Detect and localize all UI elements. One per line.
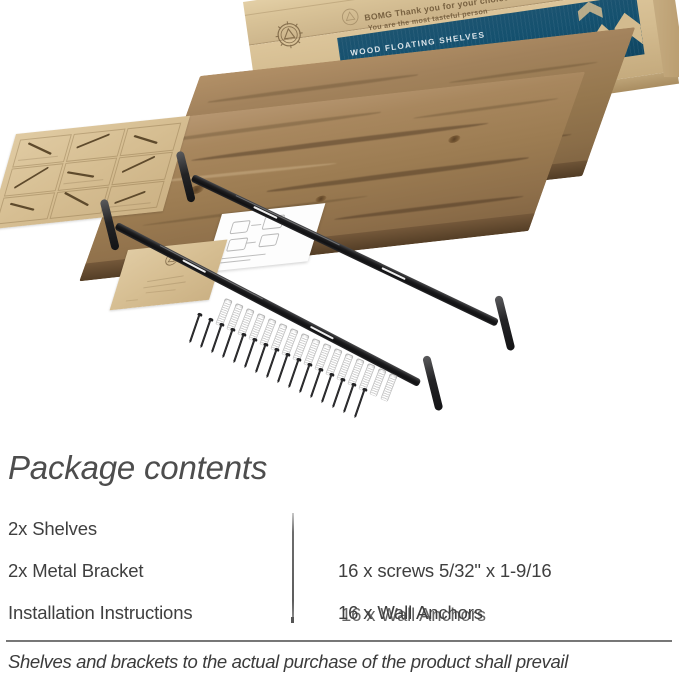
disclaimer-text: Shelves and brackets to the actual purch… [8, 651, 568, 673]
contents-item-shelves: 2x Shelves [8, 518, 97, 540]
contents-item-screws: 16 x screws 5/32" x 1-9/16 [338, 560, 551, 582]
column-divider-foot [291, 617, 294, 623]
screw-row [0, 0, 679, 437]
product-package-contents-image: BOMG Thank you for your choice You are t… [0, 0, 679, 677]
section-divider-rule [6, 640, 672, 642]
page-title: Package contents [8, 449, 267, 487]
column-divider [292, 513, 294, 620]
product-photo: BOMG Thank you for your choice You are t… [0, 0, 679, 437]
contents-item-metal-bracket: 2x Metal Bracket [8, 560, 143, 582]
contents-item-wall-anchors-ghost: 16 x Wall Anchors [341, 604, 486, 626]
contents-item-installation-instructions: Installation Instructions [8, 602, 192, 624]
package-contents-section: Package contents 2x Shelves 2x Metal Bra… [0, 437, 679, 677]
